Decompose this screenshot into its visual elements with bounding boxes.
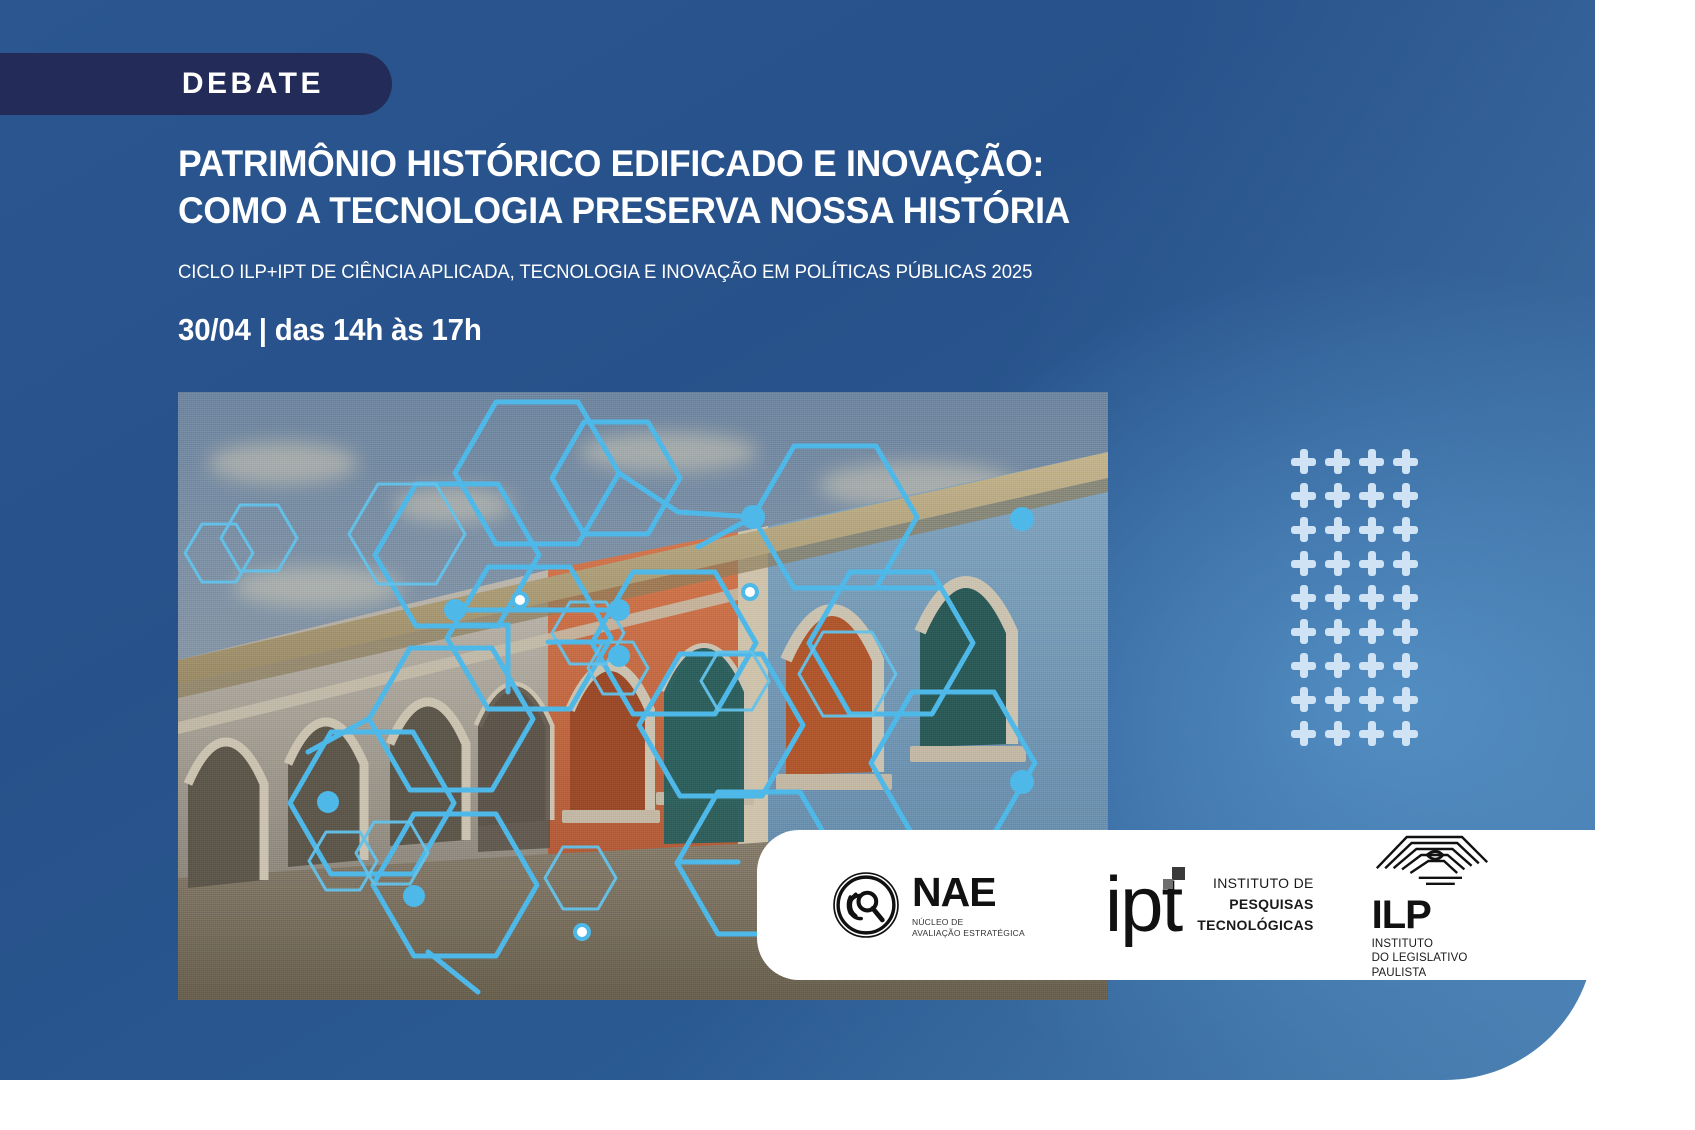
- plus-icon: [1390, 718, 1421, 749]
- nae-text: NAE NÚCLEO DE AVALIAÇÃO ESTRATÉGICA: [912, 872, 1025, 938]
- plus-icon: [1322, 548, 1353, 579]
- debate-badge-label: DEBATE: [182, 67, 324, 101]
- ilp-subtitle-line-2: DO LEGISLATIVO: [1372, 951, 1492, 965]
- ipt-subtitle-line-3: TECNOLÓGICAS: [1197, 915, 1313, 936]
- plus-icon: [1356, 446, 1387, 477]
- plus-icon: [1288, 446, 1319, 477]
- bottom-white-margin: [0, 1080, 1695, 1130]
- title-line-1: PATRIMÔNIO HISTÓRICO EDIFICADO E INOVAÇÃ…: [178, 143, 1044, 184]
- ipt-dot-secondary-icon: [1163, 879, 1173, 889]
- plus-icon: [1390, 650, 1421, 681]
- plus-icon: [1356, 650, 1387, 681]
- plus-icon: [1288, 718, 1319, 749]
- plus-icon: [1288, 684, 1319, 715]
- plus-icon: [1390, 480, 1421, 511]
- plus-icon: [1356, 480, 1387, 511]
- plus-icon: [1356, 684, 1387, 715]
- ipt-subtitle-line-2: PESQUISAS: [1197, 894, 1313, 915]
- ipt-name: ipt: [1105, 860, 1181, 948]
- series-subtitle: CICLO ILP+IPT DE CIÊNCIA APLICADA, TECNO…: [178, 261, 1128, 284]
- logo-bar: NAE NÚCLEO DE AVALIAÇÃO ESTRATÉGICA ipt …: [757, 830, 1695, 980]
- nae-name: NAE: [912, 872, 1025, 913]
- page-title: PATRIMÔNIO HISTÓRICO EDIFICADO E INOVAÇÃ…: [178, 140, 1138, 235]
- plus-icon: [1356, 514, 1387, 545]
- fingerprint-magnifier-icon: [832, 871, 900, 939]
- plus-icon: [1390, 582, 1421, 613]
- plus-icon: [1356, 582, 1387, 613]
- logo-ipt: ipt INSTITUTO DE PESQUISAS TECNOLÓGICAS: [1105, 873, 1314, 937]
- ilp-subtitle-line-3: PAULISTA: [1372, 966, 1492, 980]
- ilp-subtitle-line-1: INSTITUTO: [1372, 937, 1492, 951]
- plus-pattern: [1288, 446, 1421, 749]
- plus-icon: [1390, 514, 1421, 545]
- ipt-subtitle: INSTITUTO DE PESQUISAS TECNOLÓGICAS: [1197, 873, 1313, 936]
- plus-icon: [1288, 514, 1319, 545]
- plus-icon: [1322, 480, 1353, 511]
- logo-nae: NAE NÚCLEO DE AVALIAÇÃO ESTRATÉGICA: [832, 871, 1025, 939]
- nae-subtitle-line-1: NÚCLEO DE: [912, 917, 1025, 928]
- plus-icon: [1390, 548, 1421, 579]
- plus-icon: [1288, 616, 1319, 647]
- plus-icon: [1322, 684, 1353, 715]
- event-poster: DEBATE PATRIMÔNIO HISTÓRICO EDIFICADO E …: [0, 0, 1695, 1130]
- ilp-name: ILP: [1372, 897, 1492, 933]
- ipt-wordmark-icon: ipt: [1105, 873, 1181, 937]
- plus-icon: [1390, 684, 1421, 715]
- plus-icon: [1322, 650, 1353, 681]
- plus-icon: [1322, 582, 1353, 613]
- ipt-subtitle-line-1: INSTITUTO DE: [1197, 873, 1313, 894]
- headline-block: PATRIMÔNIO HISTÓRICO EDIFICADO E INOVAÇÃ…: [178, 140, 1178, 348]
- plus-icon: [1390, 446, 1421, 477]
- plus-icon: [1322, 446, 1353, 477]
- plus-icon: [1288, 548, 1319, 579]
- plus-icon: [1288, 582, 1319, 613]
- plus-icon: [1322, 616, 1353, 647]
- plus-icon: [1356, 616, 1387, 647]
- plus-icon: [1322, 514, 1353, 545]
- title-line-2: COMO A TECNOLOGIA PRESERVA NOSSA HISTÓRI…: [178, 187, 1138, 234]
- right-white-margin: [1595, 0, 1695, 830]
- plus-icon: [1356, 718, 1387, 749]
- debate-badge: DEBATE: [0, 53, 392, 115]
- ipt-dot-icon: [1172, 867, 1185, 880]
- event-datetime: 30/04 | das 14h às 17h: [178, 312, 1128, 348]
- plus-icon: [1288, 480, 1319, 511]
- plus-icon: [1322, 718, 1353, 749]
- nae-subtitle-line-2: AVALIAÇÃO ESTRATÉGICA: [912, 928, 1025, 939]
- logo-ilp: ILP INSTITUTO DO LEGISLATIVO PAULISTA: [1372, 830, 1492, 979]
- plus-icon: [1390, 616, 1421, 647]
- plus-icon: [1356, 548, 1387, 579]
- ilp-lines-icon: [1372, 830, 1492, 892]
- plus-icon: [1288, 650, 1319, 681]
